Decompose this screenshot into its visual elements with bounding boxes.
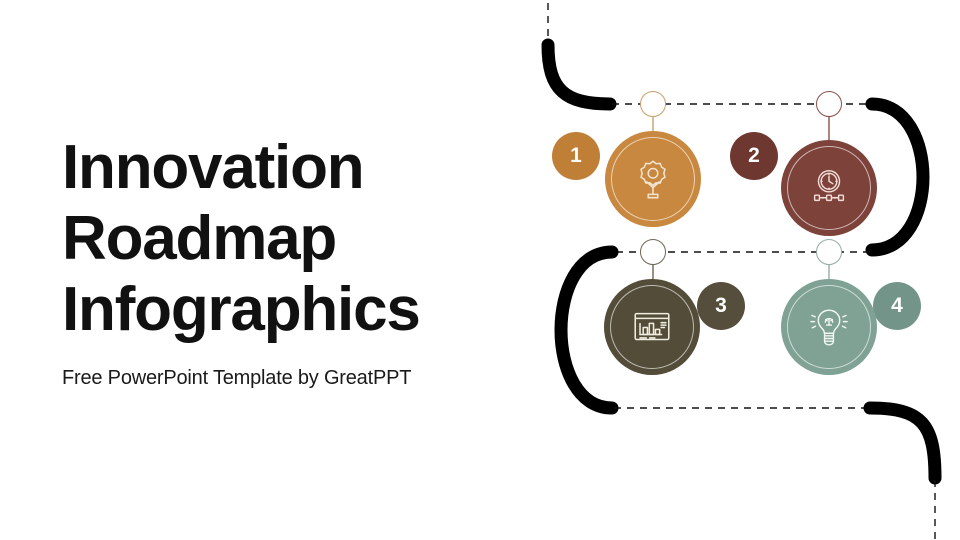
clock-timeline-icon xyxy=(781,140,877,236)
step-circle-3[interactable] xyxy=(604,279,700,375)
step-badge-1: 1 xyxy=(552,132,600,180)
step-circle-4[interactable] xyxy=(781,279,877,375)
pin-dot-step-3 xyxy=(640,239,666,265)
step-number-1: 1 xyxy=(570,144,582,168)
trophy-award-icon xyxy=(605,131,701,227)
step-circle-2[interactable] xyxy=(781,140,877,236)
pin-dot-step-1 xyxy=(640,91,666,117)
step-number-4: 4 xyxy=(891,294,903,318)
step-badge-4: 4 xyxy=(873,282,921,330)
connector-curve-top-left xyxy=(548,45,610,104)
pin-dot-step-2 xyxy=(816,91,842,117)
step-badge-2: 2 xyxy=(730,132,778,180)
roadmap-connectors xyxy=(0,0,960,540)
dashboard-chart-icon xyxy=(604,279,700,375)
connector-curve-bottom-right xyxy=(870,408,935,478)
step-number-3: 3 xyxy=(715,294,727,318)
pin-dot-step-4 xyxy=(816,239,842,265)
step-number-2: 2 xyxy=(748,144,760,168)
slide-canvas: Innovation Roadmap Infographics Free Pow… xyxy=(0,0,960,540)
connector-curve-right xyxy=(872,104,923,250)
step-circle-1[interactable] xyxy=(605,131,701,227)
lightbulb-idea-icon xyxy=(781,279,877,375)
step-badge-3: 3 xyxy=(697,282,745,330)
